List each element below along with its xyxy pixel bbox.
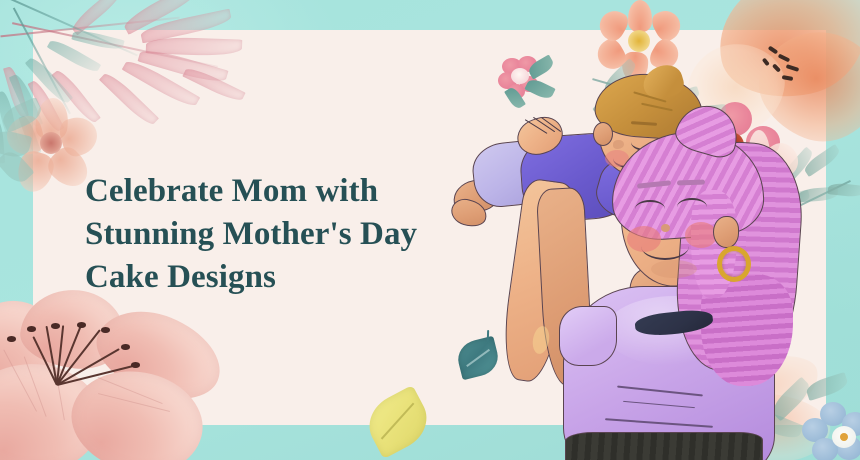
mothers-day-banner: Celebrate Mom with Stunning Mother's Day… — [0, 0, 860, 460]
earring-icon — [717, 246, 751, 282]
decor-top-left-sage-fronds — [0, 0, 206, 190]
floating-yellow-leaf — [359, 385, 436, 459]
decor-bottom-left-lily — [0, 290, 275, 460]
illustration-mother-and-baby — [455, 60, 860, 460]
headline-line-2: Stunning Mother's Day — [85, 213, 505, 256]
headline-line-3: Cake Designs — [85, 256, 505, 299]
decor-top-left-pink-leaves — [0, 0, 270, 157]
headline-line-1: Celebrate Mom with — [85, 170, 505, 213]
headline: Celebrate Mom with Stunning Mother's Day… — [85, 170, 505, 299]
